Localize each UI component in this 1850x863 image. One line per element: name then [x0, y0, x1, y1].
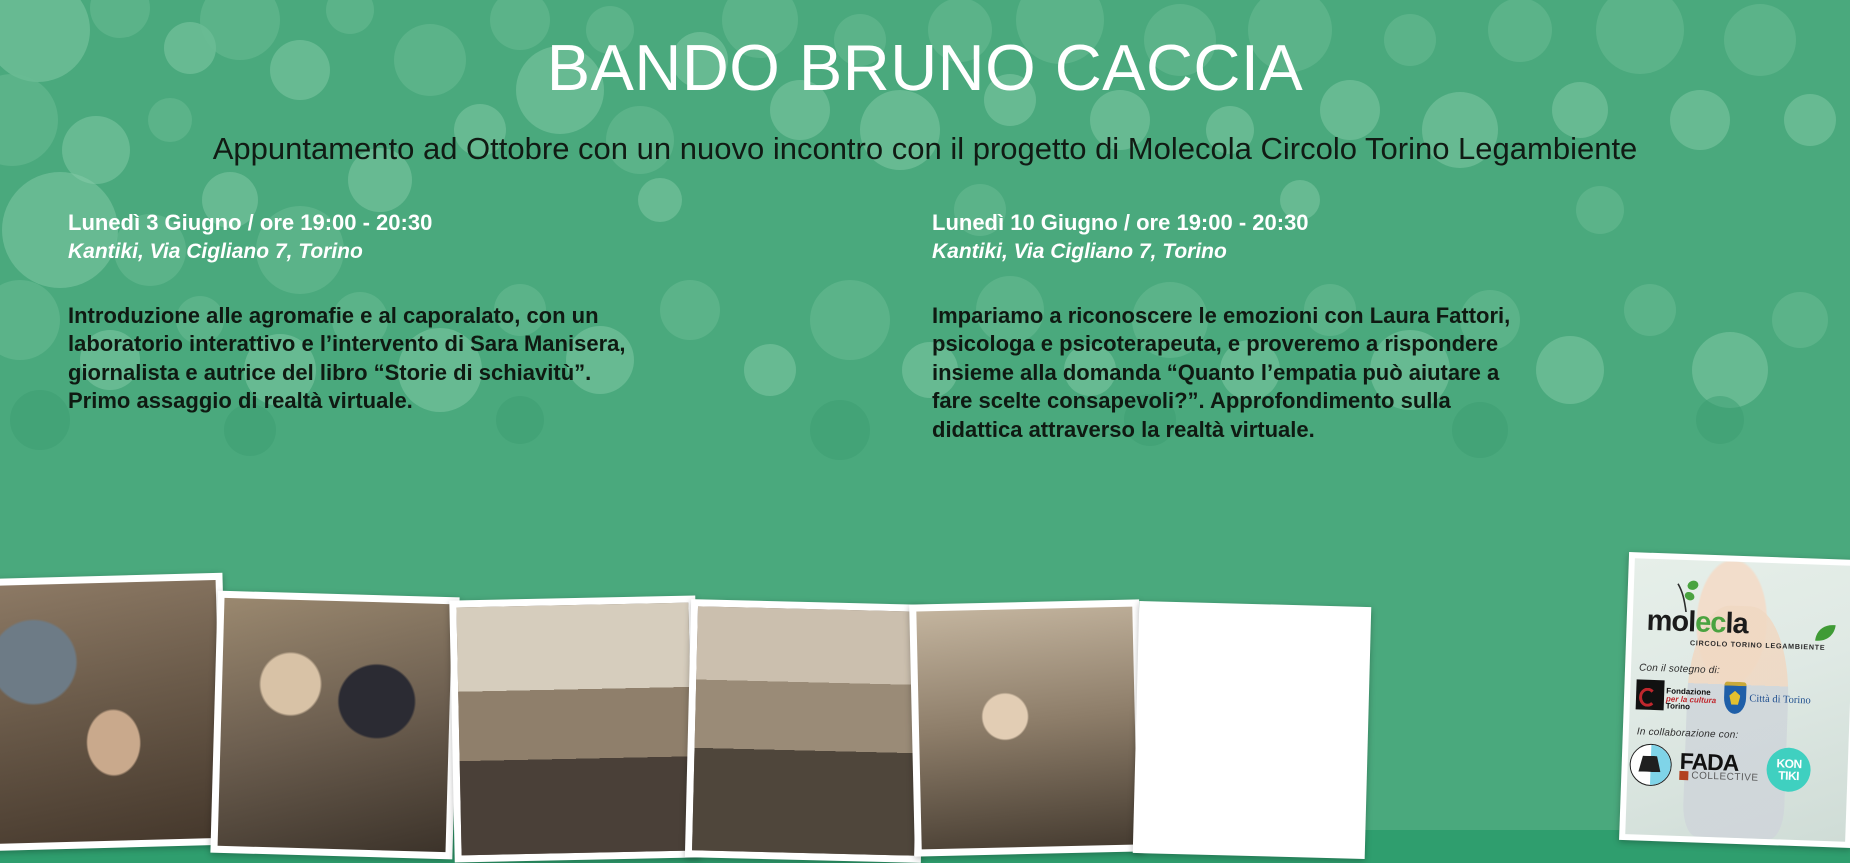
molecola-logo-part3: la — [1725, 607, 1748, 640]
background-bokeh-circle — [1692, 332, 1768, 408]
event-column-right: Lunedì 10 Giugno / ore 19:00 - 20:30 Kan… — [932, 208, 1652, 444]
event-description-line: Introduzione alle agromafie e al caporal… — [68, 302, 768, 330]
molecola-logo: molecla — [1646, 607, 1748, 640]
ft-monogram-icon — [1636, 679, 1665, 710]
background-bokeh-circle — [90, 0, 150, 38]
torino-crest-icon — [1724, 681, 1747, 714]
event-column-left: Lunedì 3 Giugno / ore 19:00 - 20:30 Kant… — [68, 208, 768, 416]
credits-card-background: molecla CIRCOLO TORINO LEGAMBIENTE Con i… — [1625, 558, 1850, 842]
fondazione-cultura-torino-logo: Fondazione per la cultura Torino — [1636, 679, 1717, 712]
event-description-line: Primo assaggio di realtà virtuale. — [68, 387, 768, 415]
event-venue: Kantiki, Via Cigliano 7, Torino — [932, 238, 1652, 266]
event-description-line: didattica attraverso la realtà virtuale. — [932, 416, 1652, 444]
event-description-line: Impariamo a riconoscere le emozioni con … — [932, 302, 1652, 330]
ft-text: Fondazione per la cultura Torino — [1666, 688, 1717, 713]
support-label: Con il sotegno di: — [1639, 662, 1720, 676]
fada-square-icon — [1679, 771, 1688, 780]
collaboration-label: In collaborazione con: — [1637, 726, 1739, 741]
fada-subtext-row: COLLECTIVE — [1679, 771, 1759, 783]
molecola-logo-part1: mol — [1646, 605, 1696, 639]
page-title: BANDO BRUNO CACCIA — [0, 34, 1850, 102]
event-description-line: laboratorio interattivo e l’intervento d… — [68, 330, 768, 358]
background-bokeh-circle — [810, 400, 870, 460]
event-venue: Kantiki, Via Cigliano 7, Torino — [68, 238, 768, 266]
event-description: Introduzione alle agromafie e al caporal… — [68, 302, 768, 416]
event-description-line: insieme alla domanda “Quanto l’empatia p… — [932, 359, 1652, 387]
kontiki-logo: KON TIKI — [1766, 747, 1812, 793]
background-bokeh-circle — [810, 280, 890, 360]
background-bokeh-circle — [1696, 396, 1744, 444]
fada-collective-logo: FADA COLLECTIVE — [1679, 752, 1759, 784]
leaf-icon — [1814, 623, 1837, 644]
kontiki-line2: TIKI — [1778, 769, 1799, 782]
molecola-logo-part2: ec — [1695, 606, 1726, 639]
event-date: Lunedì 10 Giugno / ore 19:00 - 20:30 — [932, 208, 1652, 238]
background-bokeh-circle — [0, 280, 60, 360]
citta-di-torino-logo: Città di Torino — [1724, 681, 1812, 716]
event-description-line: giornalista e autrice del libro “Storie … — [68, 359, 768, 387]
collaborator-logos: FADA COLLECTIVE KON TIKI — [1629, 742, 1812, 792]
event-date: Lunedì 3 Giugno / ore 19:00 - 20:30 — [68, 208, 768, 238]
fada-subtext: COLLECTIVE — [1691, 772, 1759, 783]
credits-card: molecla CIRCOLO TORINO LEGAMBIENTE Con i… — [1619, 552, 1850, 848]
aringolo-logo — [1629, 743, 1672, 786]
citta-di-torino-text: Città di Torino — [1749, 693, 1811, 706]
event-description: Impariamo a riconoscere le emozioni con … — [932, 302, 1652, 444]
background-bokeh-circle — [10, 390, 70, 450]
background-bokeh-circle — [326, 0, 374, 34]
event-description-line: psicologa e psicoterapeuta, e proveremo … — [932, 330, 1652, 358]
event-description-line: fare scelte consapevoli?”. Approfondimen… — [932, 387, 1652, 415]
background-bokeh-circle — [1772, 292, 1828, 348]
page-subtitle: Appuntamento ad Ottobre con un nuovo inc… — [0, 130, 1850, 167]
supporter-logos: Fondazione per la cultura Torino Città d… — [1636, 678, 1812, 716]
